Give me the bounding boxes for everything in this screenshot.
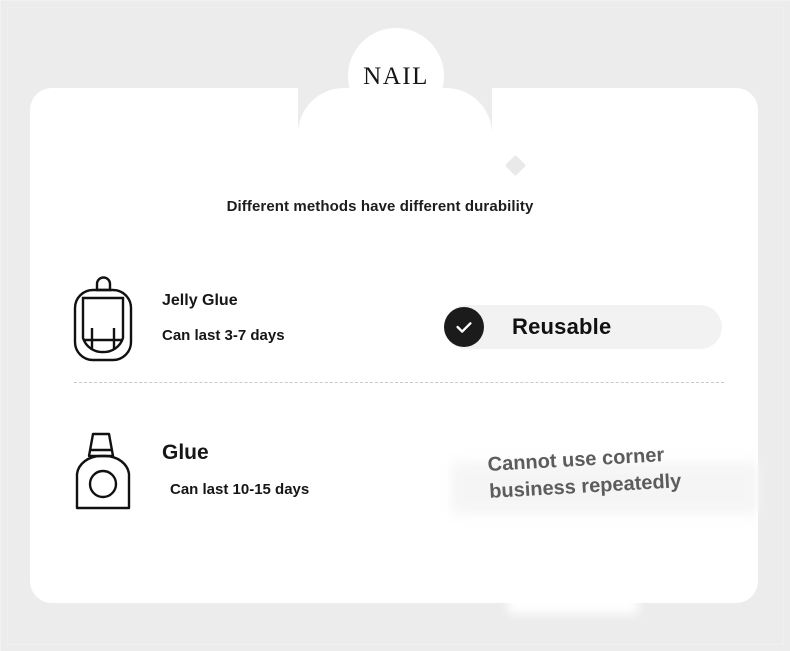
page-title: Different methods have different durabil…: [0, 198, 760, 215]
jelly-glue-labels: Jelly Glue Can last 3-7 days: [162, 292, 285, 344]
jelly-glue-title: Jelly Glue: [162, 292, 285, 310]
card-notch-right: [446, 88, 492, 134]
glue-bottle-icon: [60, 420, 146, 520]
jelly-glue-pot-icon: [60, 268, 146, 368]
glue-title: Glue: [162, 441, 309, 464]
row-divider: [74, 382, 724, 383]
nail-badge: NAIL: [348, 28, 444, 124]
glue-duration: Can last 10-15 days: [170, 482, 309, 499]
durability-row-jelly-glue: Jelly Glue Can last 3-7 days: [60, 268, 285, 368]
jelly-glue-duration: Can last 3-7 days: [162, 328, 285, 345]
glue-labels: Glue Can last 10-15 days: [162, 441, 309, 499]
card-notch-left: [298, 88, 344, 134]
nail-badge-label: NAIL: [363, 64, 429, 89]
durability-row-glue: Glue Can last 10-15 days: [60, 420, 309, 520]
reusable-badge[interactable]: Reusable: [444, 305, 722, 349]
check-circle-icon: [444, 307, 484, 347]
reusable-label: Reusable: [512, 314, 611, 340]
